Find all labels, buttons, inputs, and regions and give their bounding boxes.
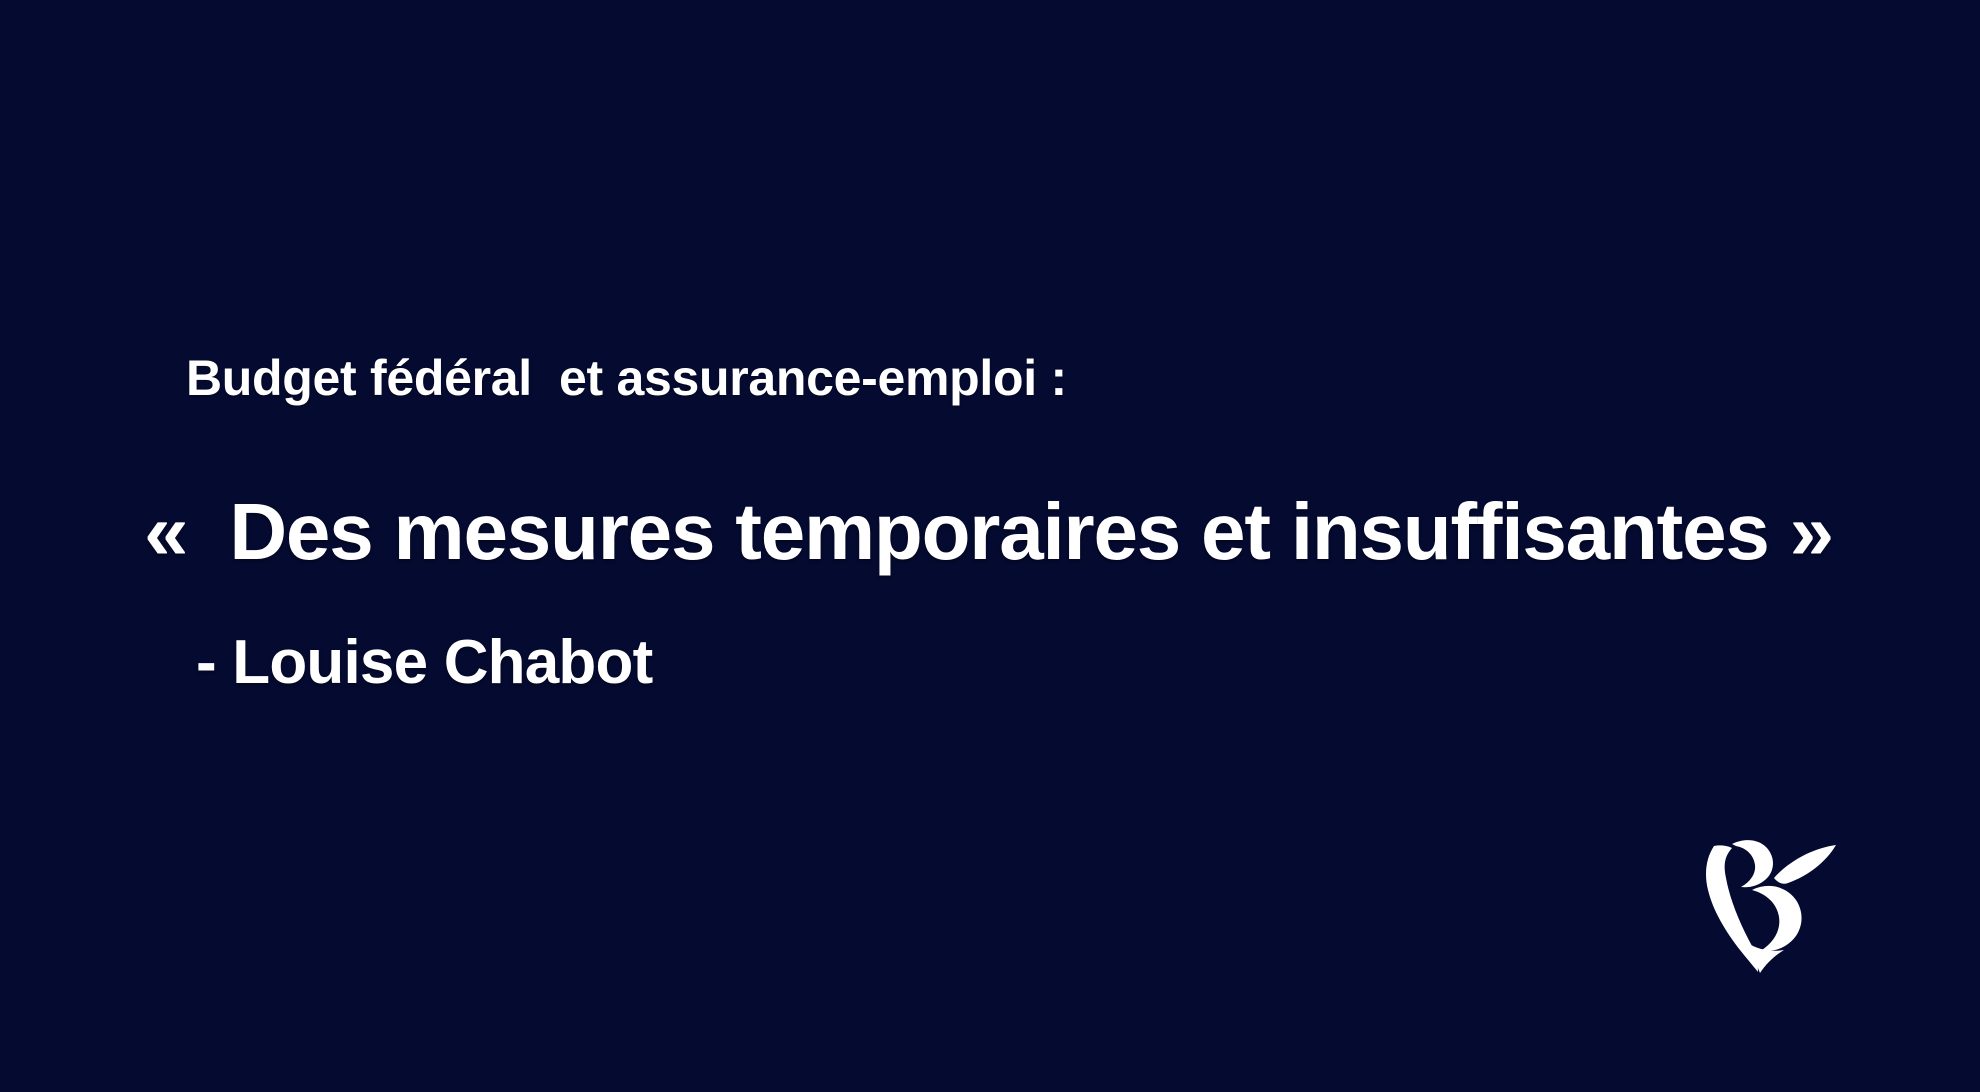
bloc-quebecois-b-heart-logo [1692,812,1862,988]
logo-upper-bowl [1732,840,1773,887]
slide-quote-text: « Des mesures temporaires et insuffisant… [144,490,1904,574]
slide-kicker-title: Budget fédéral et assurance-emploi : [186,352,1067,405]
slide-attribution-text: - Louise Chabot [196,630,652,695]
slide-text-block: Budget fédéral et assurance-emploi : « D… [0,0,1980,1092]
logo-lower-bowl [1752,886,1802,951]
logo-leaf-flourish [1774,845,1836,884]
quote-slide: Budget fédéral et assurance-emploi : « D… [0,0,1980,1092]
